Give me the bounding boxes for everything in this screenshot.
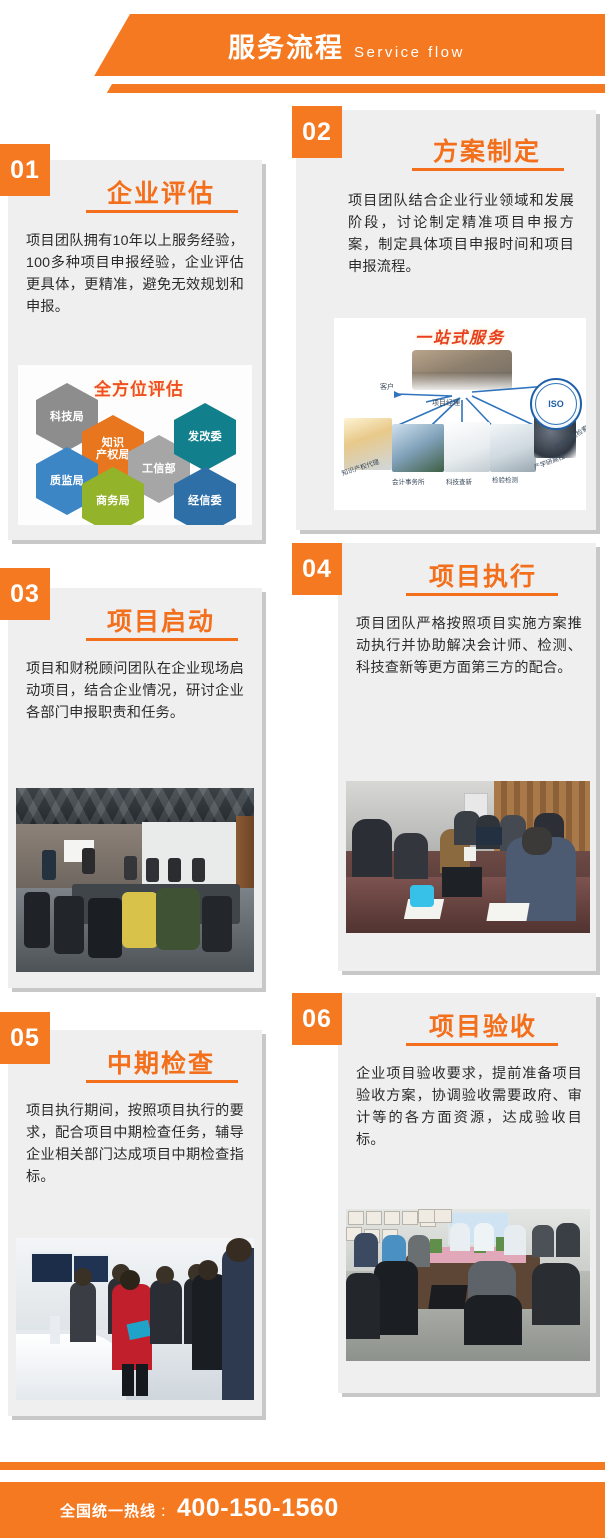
step-body-text: 项目团队严格按照项目实施方案推动执行并协助解决会计师、检测、科技查新等更方面第三… bbox=[356, 613, 582, 679]
title-underline bbox=[86, 638, 238, 641]
header-title-group: 服务流程 Service flow bbox=[228, 26, 465, 70]
footer-orange-stripe bbox=[0, 1462, 605, 1470]
hex-node-label: 商务局 bbox=[96, 495, 130, 507]
title-underline bbox=[412, 168, 564, 171]
oss-label-manager: 项目经理 bbox=[432, 398, 460, 408]
step-title: 中期检查 bbox=[68, 1044, 254, 1080]
step-title: 企业评估 bbox=[68, 174, 254, 210]
page-footer: 全国统一热线 ： 400-150-1560 bbox=[0, 1420, 605, 1538]
hotline-label: 全国统一热线 bbox=[60, 1500, 156, 1521]
hex-node-grid: 科技局 知识 产权局 质监局 工信部 商务局 发改委 经信委 bbox=[18, 365, 252, 525]
photo-conference-room bbox=[16, 788, 254, 972]
step-body-text: 企业项目验收要求，提前准备项目验收方案，协调验收需要政府、审计等的各方面资源，达… bbox=[356, 1063, 582, 1151]
hex-node-label: 发改委 bbox=[188, 431, 222, 443]
oss-caption: 科技查新 bbox=[446, 476, 472, 486]
step-card-01[interactable]: 01 企业评估 项目团队拥有10年以上服务经验，100多种项目申报经验，企业评估… bbox=[8, 160, 262, 540]
step-body-text: 项目团队结合企业行业领域和发展阶段，讨论制定精准项目申报方案，制定具体项目申报时… bbox=[348, 190, 574, 278]
oss-thumb-accounting bbox=[392, 424, 444, 472]
hotline-group: 全国统一热线 ： 400-150-1560 bbox=[60, 1494, 339, 1528]
hex-diagram: 全方位评估 科技局 知识 产权局 质监局 工信部 商务局 发改委 经信委 bbox=[18, 365, 252, 525]
hotline-number[interactable]: 400-150-1560 bbox=[177, 1494, 339, 1523]
oss-thumb-search bbox=[444, 422, 490, 472]
oss-iso-seal: ISO bbox=[530, 378, 582, 430]
hex-node-label: 质监局 bbox=[50, 475, 84, 487]
step-title: 项目启动 bbox=[68, 602, 254, 638]
title-underline bbox=[86, 210, 238, 213]
step-number-badge: 01 bbox=[0, 144, 50, 196]
poster-root: 服务流程 Service flow 01 企业评估 项目团队拥有10年以上服务经… bbox=[0, 0, 605, 1538]
step-number-badge: 02 bbox=[292, 106, 342, 158]
hex-node-label: 工信部 bbox=[142, 463, 176, 475]
title-underline bbox=[86, 1080, 238, 1083]
step-body-text: 项目团队拥有10年以上服务经验，100多种项目申报经验，企业评估更具体，更精准，… bbox=[26, 230, 244, 318]
step-body-text: 项目和财税顾问团队在企业现场启动项目，结合企业情况，研讨企业各部门申报职责和任务… bbox=[26, 658, 244, 724]
step-card-02[interactable]: 02 方案制定 项目团队结合企业行业领域和发展阶段，讨论制定精准项目申报方案，制… bbox=[296, 110, 596, 530]
step-body-text: 项目执行期间，按照项目执行的要求，配合项目中期检查任务，辅导企业相关部门达成项目… bbox=[26, 1100, 244, 1188]
oss-seal-text: ISO bbox=[548, 399, 564, 409]
step-title: 项目执行 bbox=[388, 557, 578, 593]
step-number-badge: 06 bbox=[292, 993, 342, 1045]
step-title: 项目验收 bbox=[388, 1007, 578, 1043]
oss-caption: 检验检测 bbox=[492, 474, 518, 484]
hotline-separator: ： bbox=[160, 1501, 173, 1520]
oss-caption: 会计事务所 bbox=[392, 476, 425, 486]
step-number-badge: 05 bbox=[0, 1012, 50, 1064]
oss-thumb-testing bbox=[490, 424, 536, 472]
title-underline bbox=[406, 1043, 558, 1046]
step-card-03[interactable]: 03 项目启动 项目和财税顾问团队在企业现场启动项目，结合企业情况，研讨企业各部… bbox=[8, 588, 262, 988]
step-number-badge: 04 bbox=[292, 543, 342, 595]
header-orange-stripe bbox=[107, 84, 605, 93]
step-title: 方案制定 bbox=[392, 132, 582, 168]
hex-node-label: 经信委 bbox=[188, 495, 222, 507]
page-title: 服务流程 bbox=[228, 26, 344, 70]
photo-site-visit bbox=[16, 1238, 254, 1400]
photo-acceptance-meeting bbox=[346, 1209, 590, 1361]
one-stop-service-diagram: 一站式服务 客户 bbox=[334, 318, 586, 510]
page-subtitle: Service flow bbox=[354, 44, 465, 61]
title-underline bbox=[406, 593, 558, 596]
hex-node-label: 知识 产权局 bbox=[96, 437, 130, 462]
step-card-04[interactable]: 04 项目执行 项目团队严格按照项目实施方案推动执行并协助解决会计师、检测、科技… bbox=[338, 543, 596, 971]
photo-working-meeting bbox=[346, 781, 590, 933]
page-header: 服务流程 Service flow bbox=[0, 0, 605, 110]
step-card-05[interactable]: 05 中期检查 项目执行期间，按照项目执行的要求，配合项目中期检查任务，辅导企业… bbox=[8, 1030, 262, 1416]
hex-node-label: 科技局 bbox=[50, 411, 84, 423]
step-number-badge: 03 bbox=[0, 568, 50, 620]
step-card-06[interactable]: 06 项目验收 企业项目验收要求，提前准备项目验收方案，协调验收需要政府、审计等… bbox=[338, 993, 596, 1393]
oss-label-client: 客户 bbox=[380, 382, 394, 392]
